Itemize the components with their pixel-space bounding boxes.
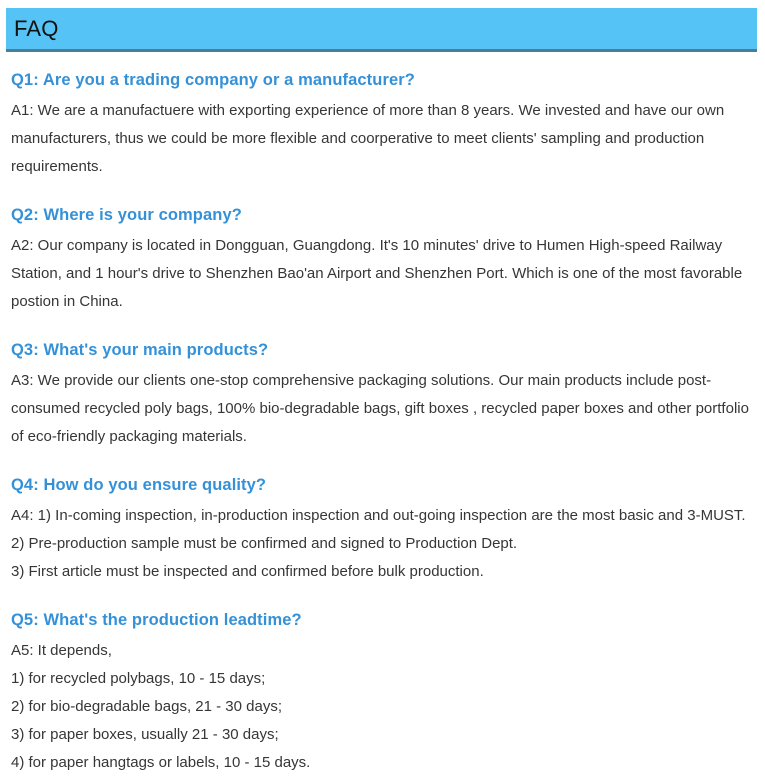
faq-item: Q3: What's your main products?A3: We pro…	[11, 340, 751, 451]
faq-answer: A1: We are a manufactuere with exporting…	[11, 97, 751, 181]
faq-item: Q2: Where is your company?A2: Our compan…	[11, 205, 751, 316]
faq-answer: A4: 1) In-coming inspection, in-producti…	[11, 502, 751, 586]
faq-page: FAQ Q1: Are you a trading company or a m…	[0, 0, 765, 748]
faq-answer-line: A5: It depends,	[11, 637, 751, 665]
faq-answer: A3: We provide our clients one-stop comp…	[11, 367, 751, 451]
faq-answer-line: A4: 1) In-coming inspection, in-producti…	[11, 502, 751, 530]
faq-answer-line: 3) for paper boxes, usually 21 - 30 days…	[11, 721, 751, 749]
faq-answer: A5: It depends,1) for recycled polybags,…	[11, 637, 751, 777]
faq-question: Q2: Where is your company?	[11, 205, 751, 225]
page-title: FAQ	[6, 18, 59, 40]
faq-answer: A2: Our company is located in Dongguan, …	[11, 232, 751, 316]
faq-answer-line: 2) for bio-degradable bags, 21 - 30 days…	[11, 693, 751, 721]
faq-item: Q5: What's the production leadtime?A5: I…	[11, 610, 751, 777]
faq-header-bar: FAQ	[6, 8, 757, 52]
faq-question: Q1: Are you a trading company or a manuf…	[11, 70, 751, 90]
faq-answer-line: 1) for recycled polybags, 10 - 15 days;	[11, 665, 751, 693]
faq-answer-line: A1: We are a manufactuere with exporting…	[11, 97, 751, 181]
faq-answer-line: 3) First article must be inspected and c…	[11, 558, 751, 586]
faq-question: Q3: What's your main products?	[11, 340, 751, 360]
faq-item: Q4: How do you ensure quality?A4: 1) In-…	[11, 475, 751, 586]
faq-list: Q1: Are you a trading company or a manuf…	[11, 70, 751, 777]
faq-question: Q4: How do you ensure quality?	[11, 475, 751, 495]
faq-answer-line: 2) Pre-production sample must be confirm…	[11, 530, 751, 558]
faq-answer-line: A3: We provide our clients one-stop comp…	[11, 367, 751, 451]
faq-item: Q1: Are you a trading company or a manuf…	[11, 70, 751, 181]
faq-question: Q5: What's the production leadtime?	[11, 610, 751, 630]
faq-answer-line: 4) for paper hangtags or labels, 10 - 15…	[11, 749, 751, 777]
faq-answer-line: A2: Our company is located in Dongguan, …	[11, 232, 751, 316]
